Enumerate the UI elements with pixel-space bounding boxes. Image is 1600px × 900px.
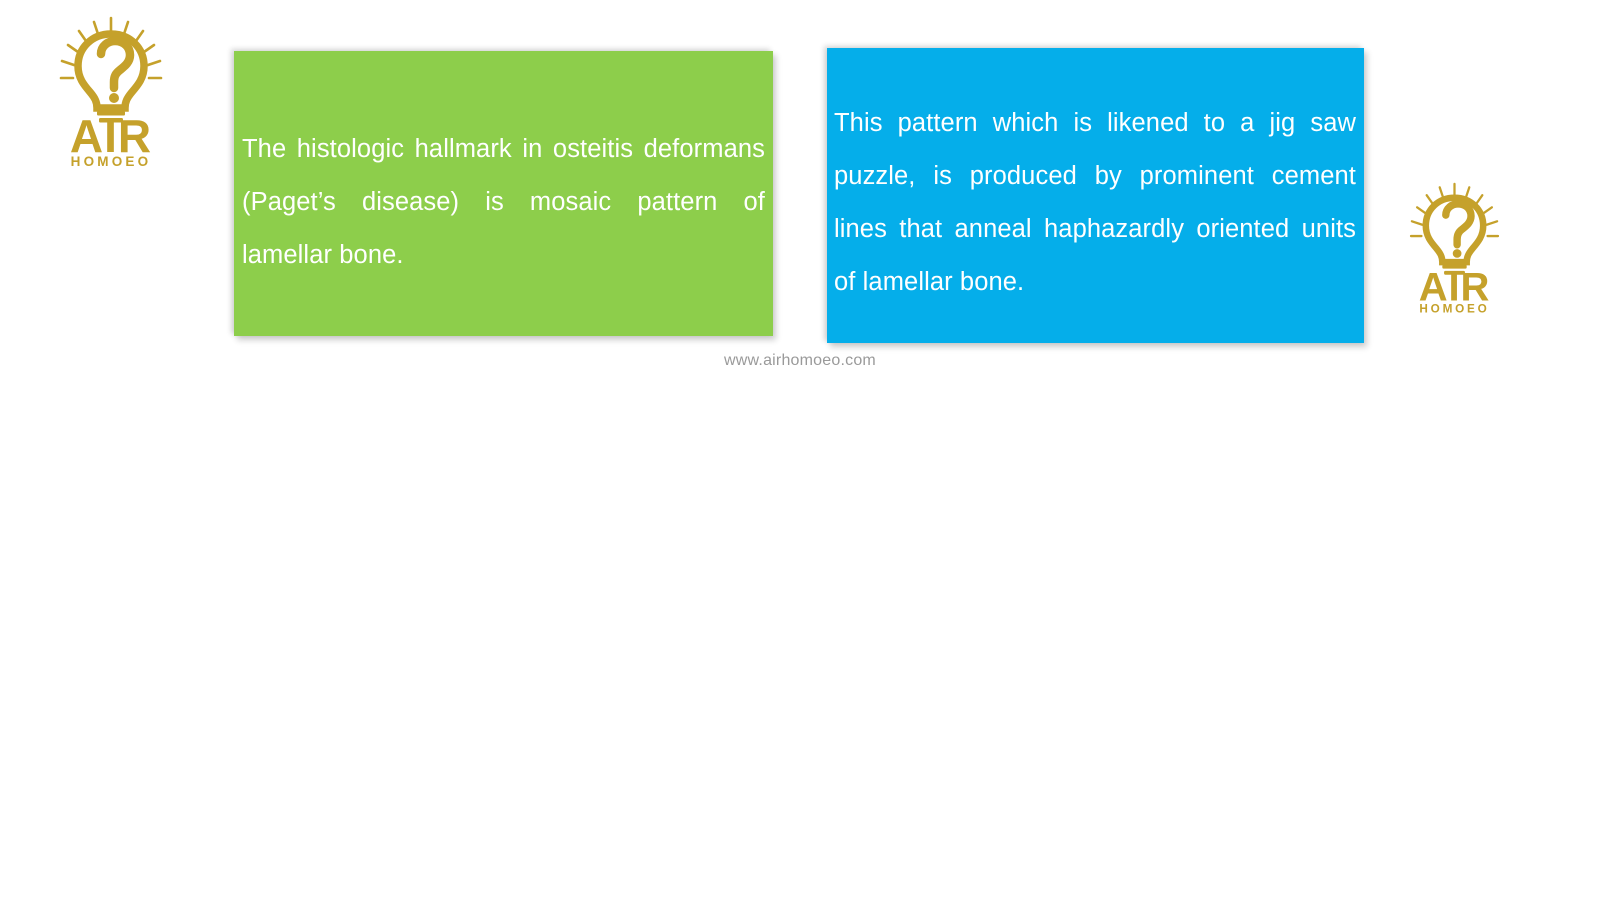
lightbulb-idea-icon: AIR HOMOEO ASPIRE - INSPIRE- REBUILD <box>38 14 184 166</box>
question-dot <box>109 93 119 103</box>
brand-subtitle: HOMOEO <box>71 154 152 166</box>
air-homoeo-logo-right: AIR HOMOEO ASPIRE - INSPIRE- REBUILD <box>1391 180 1518 313</box>
brand-subtitle: HOMOEO <box>1419 303 1489 313</box>
question-dot <box>1453 249 1462 258</box>
green-box-text: The histologic hallmark in osteitis defo… <box>242 123 765 282</box>
green-content-box: The histologic hallmark in osteitis defo… <box>234 51 773 336</box>
air-homoeo-logo-left: AIR HOMOEO ASPIRE - INSPIRE- REBUILD <box>38 14 184 166</box>
website-url-label: www.airhomoeo.com <box>0 352 1600 370</box>
blue-box-text: This pattern which is likened to a jig s… <box>834 97 1356 309</box>
question-mark-shape <box>101 41 130 88</box>
question-mark-shape <box>1446 204 1471 245</box>
blue-content-box: This pattern which is likened to a jig s… <box>827 48 1364 343</box>
lightbulb-idea-icon: AIR HOMOEO ASPIRE - INSPIRE- REBUILD <box>1391 180 1518 313</box>
slide-canvas: AIR HOMOEO ASPIRE - INSPIRE- REBUILD The… <box>0 0 1600 900</box>
